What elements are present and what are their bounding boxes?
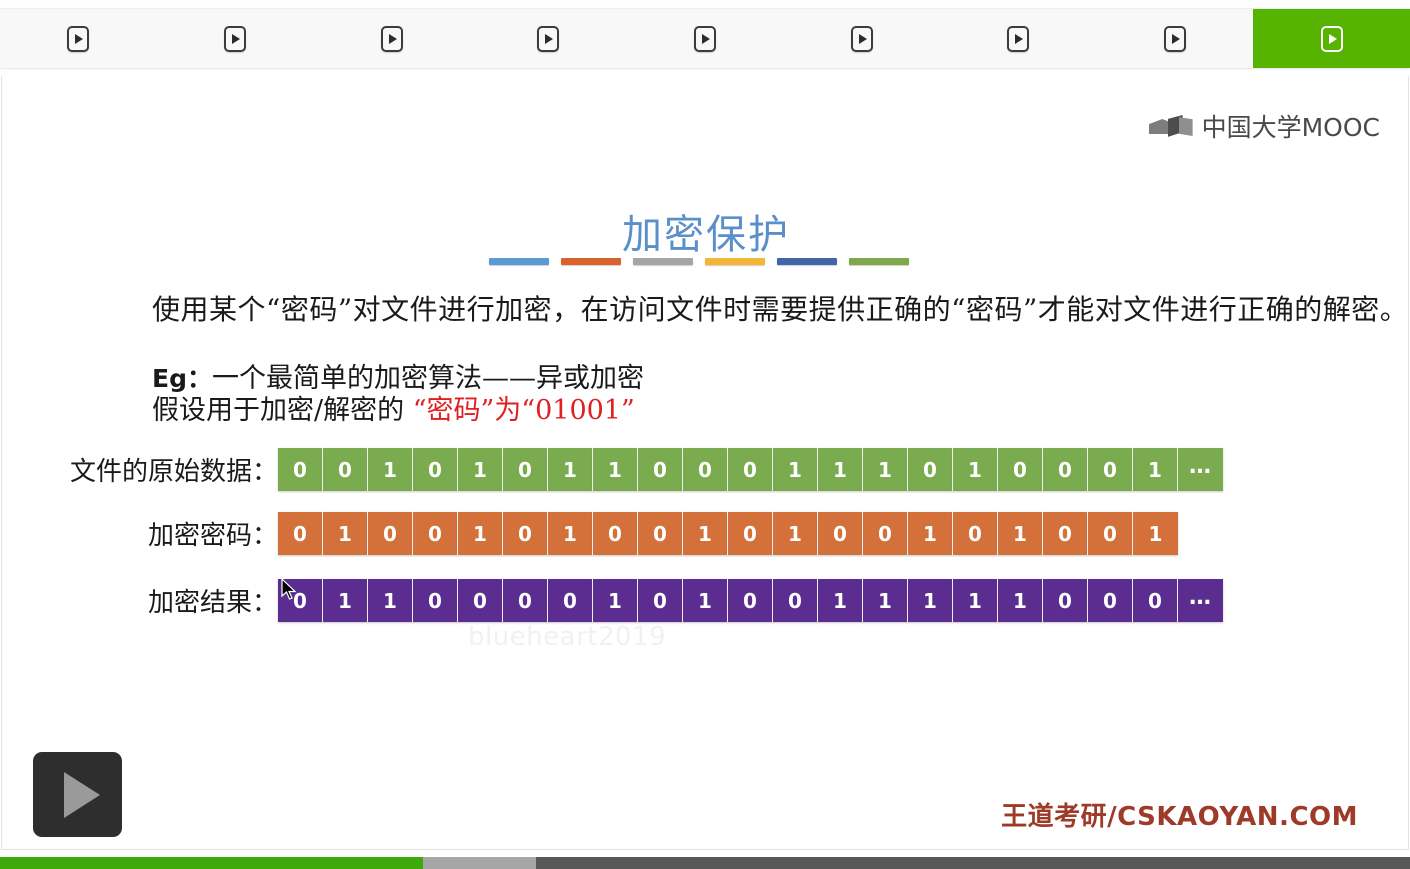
bit-cell: 0: [773, 579, 818, 622]
overlay-play-button[interactable]: [33, 752, 122, 837]
bit-cell-ellipsis: …: [1178, 448, 1223, 491]
row-label-result: 加密结果：: [56, 582, 278, 619]
bit-cell: 1: [908, 579, 953, 622]
row-label-key: 加密密码：: [56, 515, 278, 552]
bit-cell: 1: [593, 448, 638, 491]
bit-cell: 1: [998, 579, 1043, 622]
bit-cell: 1: [863, 579, 908, 622]
bit-cell: 0: [1043, 579, 1088, 622]
bit-cell: 1: [1133, 512, 1178, 555]
underline-bar-6: [849, 258, 909, 265]
bit-cell: 0: [1088, 448, 1133, 491]
mooc-logo-text: 中国大学MOOC: [1202, 108, 1380, 144]
bit-cell: 1: [818, 448, 863, 491]
bit-cell: 1: [818, 579, 863, 622]
bit-cell: 0: [503, 579, 548, 622]
chapter-tab-3[interactable]: [313, 9, 470, 68]
bit-cell: 0: [818, 512, 863, 555]
table-row: 文件的原始数据： 00101011000111010001…: [56, 448, 1223, 491]
bit-cell: 1: [863, 448, 908, 491]
bit-cell: 0: [593, 512, 638, 555]
bit-cell: 0: [278, 512, 323, 555]
bit-cell: 0: [413, 579, 458, 622]
bit-cell: 0: [413, 448, 458, 491]
chapter-tab-strip: [0, 8, 1410, 68]
key-highlight: “密码”为“01001”: [413, 395, 635, 426]
bit-cell: 0: [548, 579, 593, 622]
bit-cell: 0: [278, 448, 323, 491]
play-box-icon: [851, 26, 873, 52]
play-box-icon: [1321, 26, 1343, 52]
table-row: 加密密码： 01001010010100101001: [56, 512, 1178, 555]
underline-bar-2: [561, 258, 621, 265]
video-player-page: 中国大学MOOC 加密保护 使用某个“密码”对文件进行加密，在访问文件时需要提供…: [0, 0, 1410, 869]
slide-title: 加密保护: [2, 202, 1409, 260]
play-box-icon: [381, 26, 403, 52]
paragraph-description: 使用某个“密码”对文件进行加密，在访问文件时需要提供正确的“密码”才能对文件进行…: [152, 288, 1408, 328]
paragraph-key: 假设用于加密/解密的 “密码”为“01001”: [152, 388, 635, 427]
bit-cell: 1: [1133, 448, 1178, 491]
bit-cell: 0: [998, 448, 1043, 491]
underline-bar-4: [705, 258, 765, 265]
bit-cell: 0: [683, 448, 728, 491]
play-box-icon: [537, 26, 559, 52]
play-box-icon: [67, 26, 89, 52]
bit-cell: 0: [728, 448, 773, 491]
underline-bar-5: [777, 258, 837, 265]
bit-cell: 1: [548, 512, 593, 555]
bit-cell: 0: [1088, 579, 1133, 622]
bit-cell: 0: [1088, 512, 1133, 555]
bit-cell: 1: [773, 512, 818, 555]
bit-cell: 1: [953, 448, 998, 491]
bit-cell: 0: [863, 512, 908, 555]
play-box-icon: [694, 26, 716, 52]
bit-cell: 1: [548, 448, 593, 491]
chapter-tab-5[interactable]: [627, 9, 784, 68]
video-progress-bar[interactable]: [0, 857, 1410, 869]
bit-cell: 1: [908, 512, 953, 555]
play-box-icon: [1007, 26, 1029, 52]
bit-cell: 1: [683, 512, 728, 555]
bit-cells-key: 01001010010100101001: [278, 512, 1178, 555]
table-row: 加密结果： 01100001010011111000…: [56, 579, 1223, 622]
mooc-logo: 中国大学MOOC: [1149, 108, 1380, 144]
mooc-book-icon: [1149, 112, 1195, 140]
bit-cell: 1: [998, 512, 1043, 555]
bit-cell: 1: [683, 579, 728, 622]
bit-cell: 0: [1133, 579, 1178, 622]
bit-cell: 0: [908, 448, 953, 491]
slide-canvas: 中国大学MOOC 加密保护 使用某个“密码”对文件进行加密，在访问文件时需要提供…: [1, 76, 1409, 850]
bit-cells-result: 01100001010011111000…: [278, 579, 1223, 622]
bit-cell: 0: [1043, 448, 1088, 491]
progress-played: [0, 857, 423, 869]
bit-cell: 1: [773, 448, 818, 491]
bit-cells-original-data: 00101011000111010001…: [278, 448, 1223, 491]
mouse-pointer-icon: [281, 578, 297, 602]
bit-cell: 0: [638, 512, 683, 555]
play-box-icon: [224, 26, 246, 52]
chapter-tab-1[interactable]: [0, 9, 157, 68]
bit-cell: 0: [413, 512, 458, 555]
bit-cell: 1: [323, 512, 368, 555]
chapter-tab-2[interactable]: [157, 9, 314, 68]
bit-cell: 1: [593, 579, 638, 622]
bit-cell: 0: [638, 448, 683, 491]
row-label-original-data: 文件的原始数据：: [56, 451, 278, 488]
bit-cell: 0: [323, 448, 368, 491]
bit-cell: 0: [458, 579, 503, 622]
bit-cell: 1: [368, 579, 413, 622]
chapter-tab-6[interactable]: [783, 9, 940, 68]
bit-cell: 1: [368, 448, 413, 491]
brand-footer: 王道考研/CSKAOYAN.COM: [1001, 796, 1358, 833]
bit-cell: 0: [638, 579, 683, 622]
chapter-tab-9[interactable]: [1253, 9, 1410, 68]
bit-cell-ellipsis: …: [1178, 579, 1223, 622]
play-box-icon: [1164, 26, 1186, 52]
bit-cell: 1: [953, 579, 998, 622]
bit-cell: 0: [503, 512, 548, 555]
play-triangle-icon: [64, 772, 100, 818]
chapter-tab-8[interactable]: [1097, 9, 1254, 68]
title-underline-bars: [489, 258, 909, 265]
chapter-tab-4[interactable]: [470, 9, 627, 68]
bit-cell: 0: [728, 579, 773, 622]
bit-cell: 0: [503, 448, 548, 491]
watermark: blueheart2019: [468, 622, 666, 652]
bit-cell: 1: [458, 448, 503, 491]
bit-cell: 1: [323, 579, 368, 622]
key-prefix: 假设用于加密/解密的: [152, 395, 413, 426]
bit-cell: 1: [458, 512, 503, 555]
chapter-tab-7[interactable]: [940, 9, 1097, 68]
bit-cell: 0: [953, 512, 998, 555]
bit-cell: 0: [1043, 512, 1088, 555]
underline-bar-3: [633, 258, 693, 265]
underline-bar-1: [489, 258, 549, 265]
bit-cell: 0: [368, 512, 413, 555]
bit-cell: 0: [728, 512, 773, 555]
